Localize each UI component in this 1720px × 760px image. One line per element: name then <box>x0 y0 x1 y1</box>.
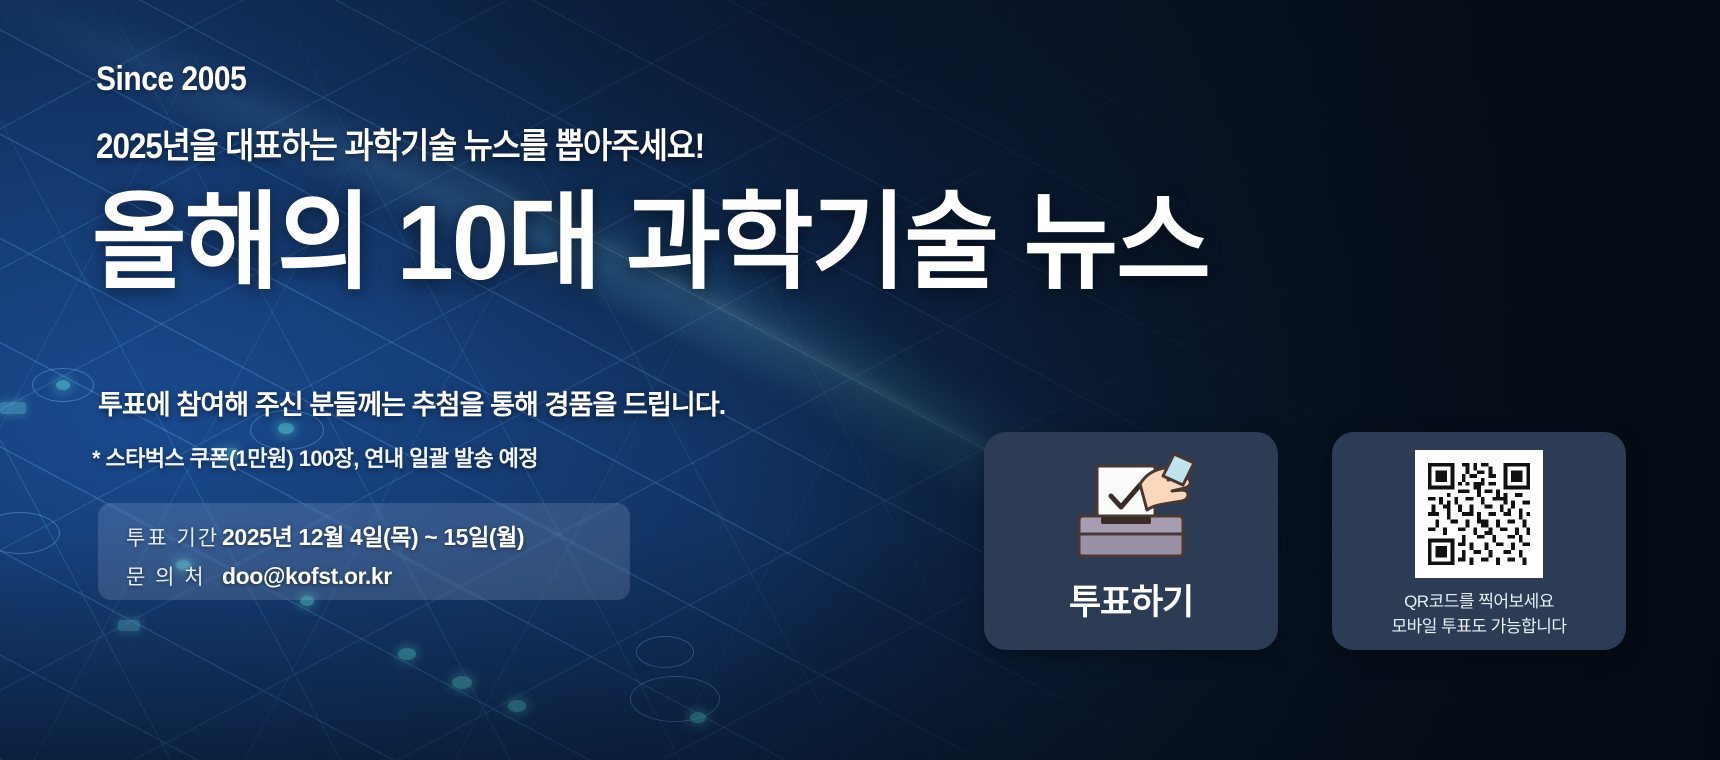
qr-code-icon <box>1415 450 1543 578</box>
qr-card-caption: QR코드를 찍어보세요 모바일 투표도 가능합니다 <box>1332 590 1626 639</box>
page-title: 올해의 10대 과학기술 뉴스 <box>92 186 1209 300</box>
subheadline: 2025년을 대표하는 과학기술 뉴스를 뽑아주세요! <box>96 118 704 169</box>
ballot-box-icon <box>1056 446 1206 558</box>
voting-period-label: 투표 기간 <box>126 522 222 552</box>
prize-note: * 스타벅스 쿠폰(1만원) 100장, 연내 일괄 발송 예정 <box>92 441 538 473</box>
contact-row: 문 의 처 doo@kofst.or.kr <box>126 561 630 591</box>
since-label: Since 2005 <box>96 60 246 99</box>
prize-headline: 투표에 참여해 주신 분들께는 추첨을 통해 경품을 드립니다. <box>98 383 725 422</box>
qr-caption-line1: QR코드를 찍어보세요 <box>1332 590 1626 615</box>
vote-button-label: 투표하기 <box>984 574 1278 625</box>
info-box: 투표 기간 2025년 12월 4일(목) ~ 15일(월) 문 의 처 doo… <box>98 503 630 600</box>
promo-banner: Since 2005 2025년을 대표하는 과학기술 뉴스를 뽑아주세요! 올… <box>0 0 1720 760</box>
vote-button-card[interactable]: 투표하기 <box>984 432 1278 650</box>
voting-period-value: 2025년 12월 4일(목) ~ 15일(월) <box>222 518 524 552</box>
contact-email[interactable]: doo@kofst.or.kr <box>222 563 392 590</box>
qr-caption-line2: 모바일 투표도 가능합니다 <box>1332 615 1626 640</box>
voting-period-row: 투표 기간 2025년 12월 4일(목) ~ 15일(월) <box>126 518 630 552</box>
qr-code-card[interactable]: QR코드를 찍어보세요 모바일 투표도 가능합니다 <box>1332 432 1626 650</box>
contact-label: 문 의 처 <box>126 561 222 591</box>
